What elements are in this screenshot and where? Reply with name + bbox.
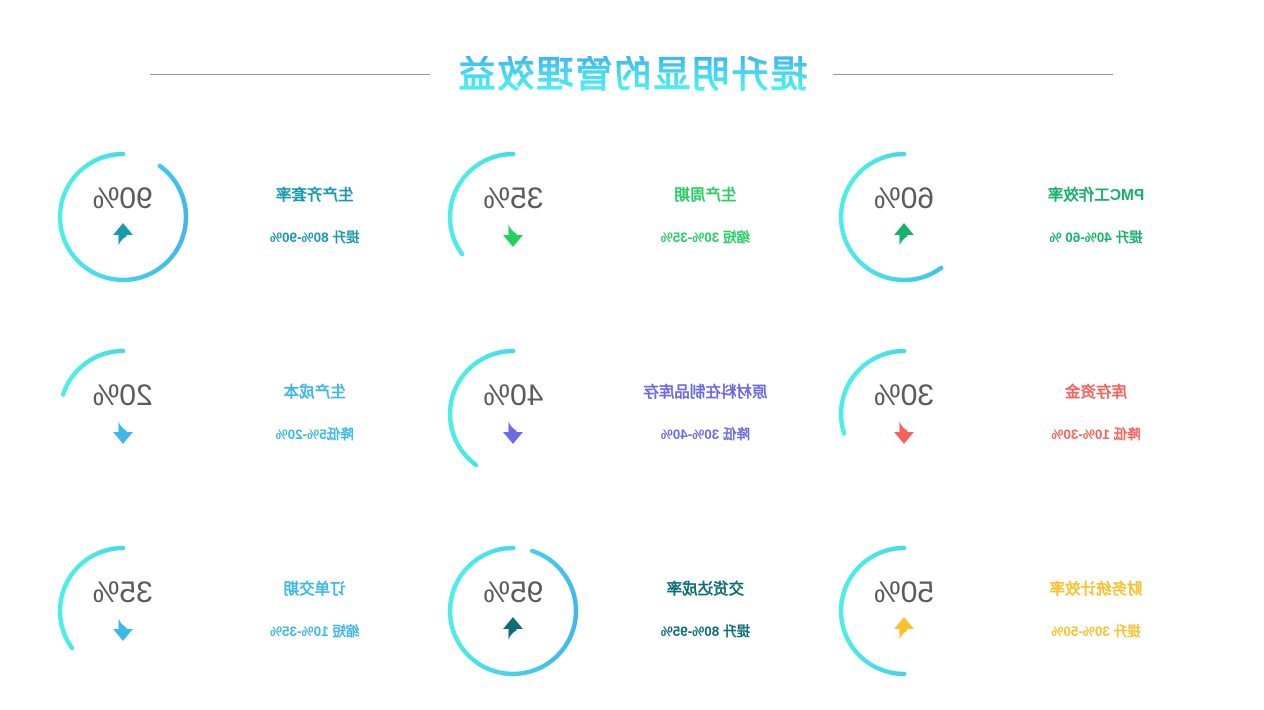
progress-ring-icon bbox=[47, 141, 199, 293]
progress-ring-icon bbox=[828, 141, 980, 293]
metric-labels: 库存资金降低 10%-30% bbox=[990, 384, 1202, 444]
metric-detail: 降低 10%-30% bbox=[990, 427, 1202, 443]
progress-ring-icon bbox=[437, 141, 589, 293]
metric-name: 订单交期 bbox=[209, 581, 421, 600]
metric-ring: 30% bbox=[828, 338, 980, 490]
metric-cell: 订单交期缩短 10%-35%35% bbox=[46, 512, 437, 709]
metric-labels: 生产齐套率提升 80%-90% bbox=[209, 187, 421, 247]
slide-canvas: 提升明显的管理效益 PMC工作效率提升 40%-60 %60%生产周期缩短 30… bbox=[0, 0, 1264, 710]
metric-cell: 库存资金降低 10%-30%30% bbox=[827, 315, 1218, 512]
metric-name: 交货达成率 bbox=[599, 581, 811, 600]
metric-detail: 降低 30%-40% bbox=[599, 427, 811, 443]
metric-name: 原材料在制品库存 bbox=[599, 384, 811, 403]
metric-cell: 财务统计效率提升 30%-50%50% bbox=[827, 512, 1218, 709]
metric-ring: 35% bbox=[47, 535, 199, 687]
metric-detail: 提升 80%-95% bbox=[599, 624, 811, 640]
metric-name: 生产成本 bbox=[209, 384, 421, 403]
metric-cell: 生产周期缩短 30%-35%35% bbox=[437, 118, 828, 315]
metric-labels: 订单交期缩短 10%-35% bbox=[209, 581, 421, 641]
title-rule-left bbox=[834, 74, 1114, 75]
metric-cell: PMC工作效率提升 40%-60 %60% bbox=[827, 118, 1218, 315]
metric-labels: 生产周期缩短 30%-35% bbox=[599, 187, 811, 247]
metric-name: 库存资金 bbox=[990, 384, 1202, 403]
metric-cell: 原材料在制品库存降低 30%-40%40% bbox=[437, 315, 828, 512]
metric-ring: 50% bbox=[828, 535, 980, 687]
metric-ring: 95% bbox=[437, 535, 589, 687]
progress-ring-icon bbox=[47, 535, 199, 687]
metric-detail: 提升 40%-60 % bbox=[990, 230, 1202, 246]
metric-name: PMC工作效率 bbox=[990, 187, 1202, 206]
metric-labels: PMC工作效率提升 40%-60 % bbox=[990, 187, 1202, 247]
metric-labels: 财务统计效率提升 30%-50% bbox=[990, 581, 1202, 641]
metric-labels: 生产成本降低5%-20% bbox=[209, 384, 421, 444]
metric-cell: 生产齐套率提升 80%-90%90% bbox=[46, 118, 437, 315]
metric-detail: 缩短 30%-35% bbox=[599, 230, 811, 246]
slide-title-row: 提升明显的管理效益 bbox=[0, 48, 1264, 100]
metric-cell: 交货达成率提升 80%-95%95% bbox=[437, 512, 828, 709]
title-rule-right bbox=[151, 74, 431, 75]
metric-detail: 提升 30%-50% bbox=[990, 624, 1202, 640]
metric-ring: 20% bbox=[47, 338, 199, 490]
metric-ring: 90% bbox=[47, 141, 199, 293]
metric-detail: 降低5%-20% bbox=[209, 427, 421, 443]
metric-ring: 35% bbox=[437, 141, 589, 293]
progress-ring-icon bbox=[437, 338, 589, 490]
metric-labels: 原材料在制品库存降低 30%-40% bbox=[599, 384, 811, 444]
metric-detail: 提升 80%-90% bbox=[209, 230, 421, 246]
metric-labels: 交货达成率提升 80%-95% bbox=[599, 581, 811, 641]
metric-cell: 生产成本降低5%-20%20% bbox=[46, 315, 437, 512]
progress-ring-icon bbox=[828, 338, 980, 490]
metric-ring: 40% bbox=[437, 338, 589, 490]
progress-ring-icon bbox=[47, 338, 199, 490]
metric-name: 财务统计效率 bbox=[990, 581, 1202, 600]
metric-name: 生产周期 bbox=[599, 187, 811, 206]
page-title: 提升明显的管理效益 bbox=[457, 56, 808, 93]
progress-ring-icon bbox=[437, 535, 589, 687]
progress-ring-icon bbox=[828, 535, 980, 687]
metric-detail: 缩短 10%-35% bbox=[209, 624, 421, 640]
metrics-grid: PMC工作效率提升 40%-60 %60%生产周期缩短 30%-35%35%生产… bbox=[46, 118, 1218, 710]
metric-ring: 60% bbox=[828, 141, 980, 293]
metric-name: 生产齐套率 bbox=[209, 187, 421, 206]
